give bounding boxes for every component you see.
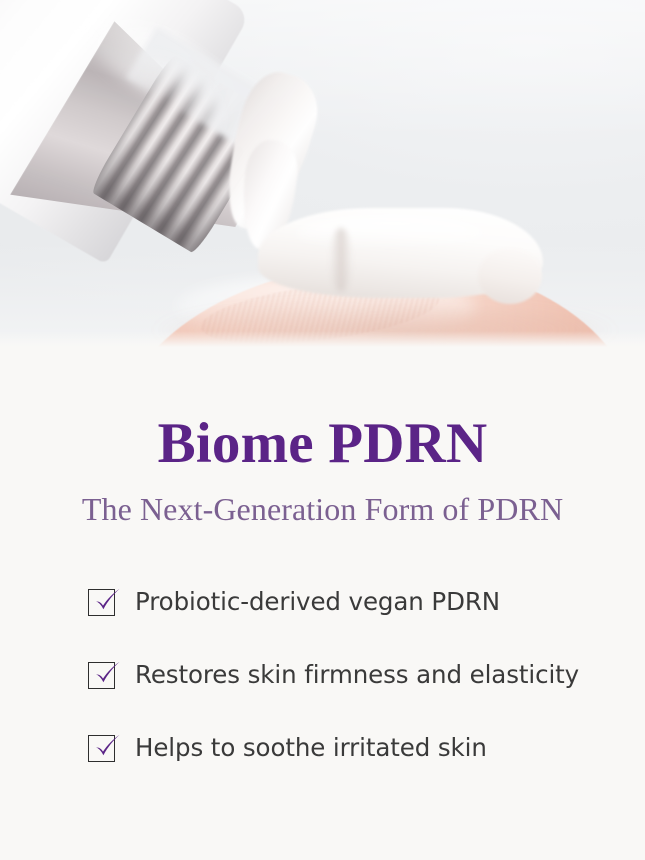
cream-blob-end bbox=[478, 248, 542, 304]
list-item: Restores skin firmness and elasticity bbox=[88, 658, 588, 731]
checkbox-checked-icon bbox=[88, 589, 115, 616]
list-item-label: Probiotic-derived vegan PDRN bbox=[135, 585, 588, 619]
cream-blob-seam bbox=[330, 228, 352, 292]
product-info-panel: Biome PDRN The Next-Generation Form of P… bbox=[0, 347, 645, 860]
page-title: Biome PDRN bbox=[0, 415, 645, 472]
checkbox-checked-icon bbox=[88, 735, 115, 762]
page-subtitle: The Next-Generation Form of PDRN bbox=[0, 493, 645, 525]
list-item: Helps to soothe irritated skin bbox=[88, 731, 588, 804]
list-item-label: Restores skin firmness and elasticity bbox=[135, 658, 588, 692]
benefits-checklist: Probiotic-derived vegan PDRN Restores sk… bbox=[88, 585, 588, 804]
cream-blob-highlight bbox=[296, 216, 486, 250]
checkbox-checked-icon bbox=[88, 662, 115, 689]
product-hero-image bbox=[0, 0, 645, 347]
list-item-label: Helps to soothe irritated skin bbox=[135, 731, 588, 765]
product-detail-page: Biome PDRN The Next-Generation Form of P… bbox=[0, 0, 645, 860]
hero-bottom-fade bbox=[0, 331, 645, 347]
list-item: Probiotic-derived vegan PDRN bbox=[88, 585, 588, 658]
